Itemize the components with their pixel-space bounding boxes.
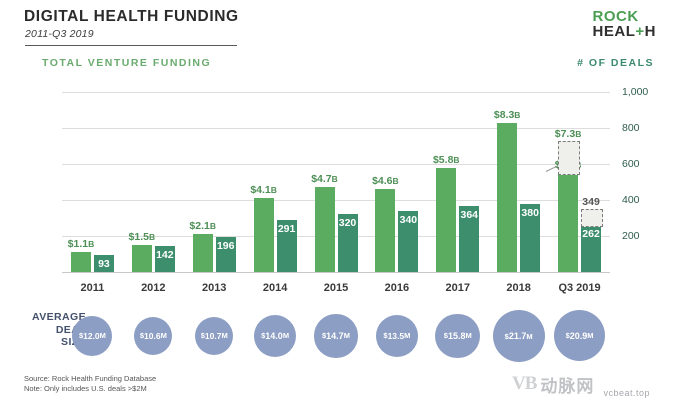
- x-axis-tick-label: Q3 2019: [549, 282, 610, 294]
- y2-axis-tick-label: 400: [622, 194, 640, 206]
- chart-plot-area: $0$2B$4B$6B$8B$10B2004006008001,000$1.1B…: [62, 92, 610, 272]
- watermark-mark: VB: [512, 373, 536, 395]
- x-axis-tick-label: 2018: [488, 282, 549, 294]
- funding-bar[interactable]: [558, 173, 578, 272]
- funding-bar[interactable]: [132, 245, 152, 272]
- y2-axis-tick-label: 200: [622, 230, 640, 242]
- plus-icon: +: [635, 23, 644, 40]
- deals-value-label: 196: [216, 240, 236, 252]
- funding-bar[interactable]: [375, 189, 395, 272]
- right-axis-section-title: # OF DEALS: [577, 57, 654, 69]
- source-note: Source: Rock Health Funding Database Not…: [24, 374, 156, 394]
- average-deal-size-bubble[interactable]: $10.7M: [195, 317, 233, 355]
- funding-value-label: $5.8B: [427, 154, 465, 166]
- funding-value-label: $1.1B: [62, 238, 100, 250]
- deals-value-label: 340: [398, 214, 418, 226]
- funding-value-label: $4.7B: [306, 173, 344, 185]
- average-deal-size-bubble[interactable]: $20.9M: [554, 310, 605, 361]
- x-axis-tick-label: 2012: [123, 282, 184, 294]
- funding-projection-box[interactable]: [558, 141, 580, 175]
- funding-bar[interactable]: [315, 187, 335, 272]
- x-axis-tick-label: 2014: [245, 282, 306, 294]
- funding-bar[interactable]: [436, 168, 456, 272]
- funding-value-label: $8.3B: [488, 109, 526, 121]
- x-axis-tick-label: 2017: [427, 282, 488, 294]
- funding-projection-label: $7.3B: [549, 128, 587, 140]
- deals-value-label: 364: [459, 209, 479, 221]
- title-divider: [25, 45, 237, 46]
- funding-value-label: $2.1B: [184, 220, 222, 232]
- x-axis-tick-label: 2011: [62, 282, 123, 294]
- watermark-url: vcbeat.top: [603, 388, 650, 398]
- average-deal-size-bubble[interactable]: $14.0M: [254, 315, 296, 357]
- funding-value-label: $4.1B: [245, 184, 283, 196]
- y2-axis-tick-label: 600: [622, 158, 640, 170]
- y2-axis-tick-label: 800: [622, 122, 640, 134]
- funding-bar[interactable]: [71, 252, 91, 272]
- average-deal-size-bubble[interactable]: $10.6M: [134, 317, 172, 355]
- funding-bar[interactable]: [497, 123, 517, 272]
- average-deal-size-bubble[interactable]: $14.7M: [314, 314, 357, 357]
- logo-line-rock: ROCK: [593, 9, 656, 24]
- x-axis-tick-label: 2013: [184, 282, 245, 294]
- gridline: [62, 272, 610, 273]
- deals-projection-label: 349: [572, 196, 610, 208]
- logo-heal-text: HEAL: [593, 23, 636, 40]
- funding-value-label: $4.6B: [366, 175, 404, 187]
- funding-value-label: $1.5B: [123, 231, 161, 243]
- left-axis-section-title: TOTAL VENTURE FUNDING: [42, 57, 211, 69]
- funding-bar[interactable]: [193, 234, 213, 272]
- chart-page: DIGITAL HEALTH FUNDING 2011-Q3 2019 TOTA…: [0, 0, 680, 408]
- x-axis-tick-label: 2015: [306, 282, 367, 294]
- deals-value-label: 380: [520, 207, 540, 219]
- gridline: [62, 128, 610, 129]
- source-line: Source: Rock Health Funding Database: [24, 374, 156, 384]
- average-deal-size-bubble[interactable]: $12.0M: [72, 316, 112, 356]
- deals-value-label: 93: [94, 258, 114, 270]
- watermark-chinese-text: 动脉网: [540, 372, 594, 397]
- page-title: DIGITAL HEALTH FUNDING: [24, 8, 239, 26]
- funding-bar[interactable]: [254, 198, 274, 272]
- logo-line-health: HEAL+H: [593, 24, 656, 39]
- gridline: [62, 92, 610, 93]
- deals-projection-box[interactable]: [581, 209, 603, 227]
- rock-health-logo: ROCK HEAL+H: [593, 9, 656, 39]
- page-subtitle: 2011-Q3 2019: [25, 28, 94, 40]
- gridline: [62, 164, 610, 165]
- average-deal-size-bubble[interactable]: $15.8M: [435, 314, 480, 359]
- deals-value-label: 320: [338, 217, 358, 229]
- note-line: Note: Only includes U.S. deals >$2M: [24, 384, 156, 394]
- y2-axis-tick-label: 1,000: [622, 86, 648, 98]
- average-deal-size-bubble[interactable]: $13.5M: [376, 315, 418, 357]
- logo-h-text: H: [645, 23, 656, 40]
- deals-value-label: 142: [155, 249, 175, 261]
- average-deal-size-bubble[interactable]: $21.7M: [493, 310, 545, 362]
- x-axis-tick-label: 2016: [366, 282, 427, 294]
- deals-value-label: 262: [581, 228, 601, 240]
- gridline: [62, 200, 610, 201]
- deals-value-label: 291: [277, 223, 297, 235]
